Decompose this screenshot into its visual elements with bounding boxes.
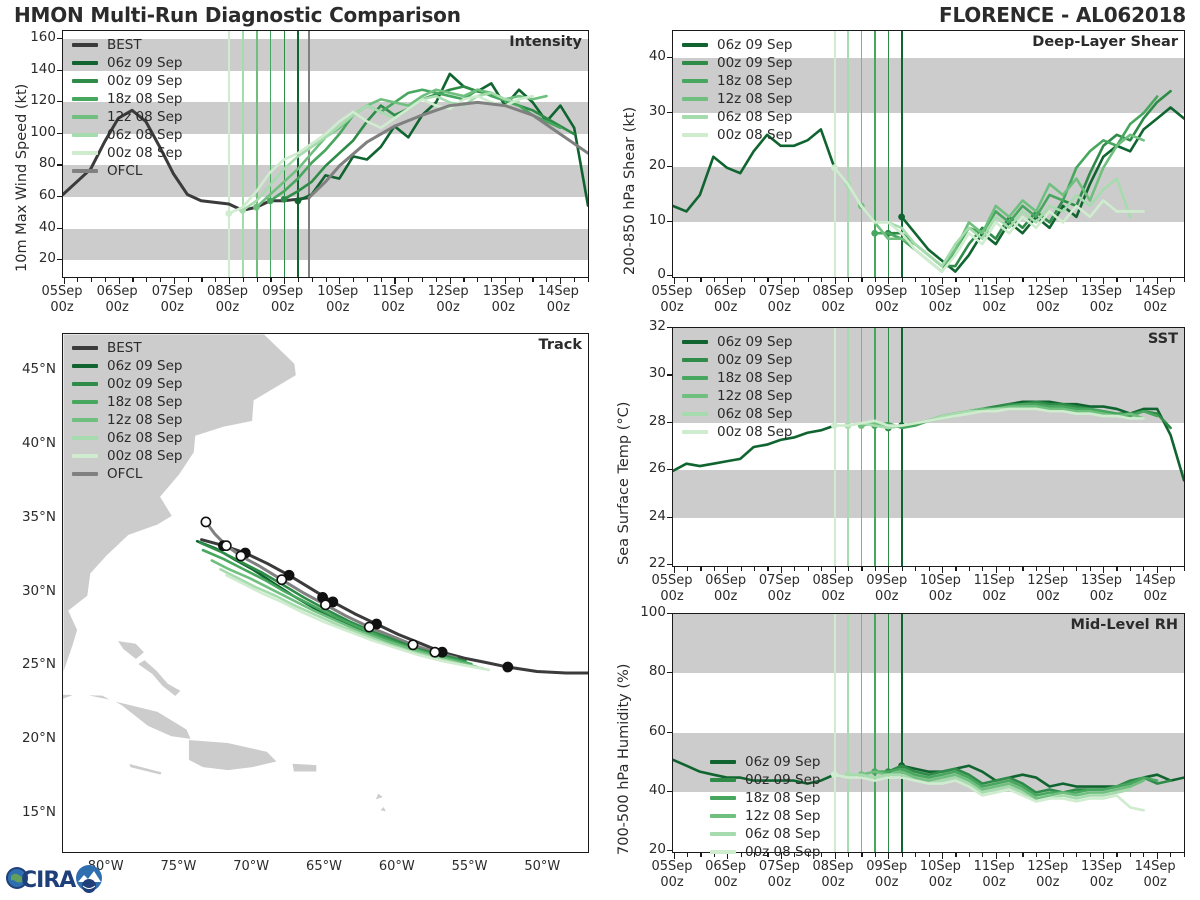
legend-label: 12z 08 Sep [107,412,182,428]
x-tick-mark [422,278,423,282]
x-tick-label: 05Sep00z [642,859,702,892]
x-tick-mark [1116,567,1117,571]
y-tick-label: 100 [624,604,666,620]
x-tick-label: 08Sep00z [803,573,863,606]
legend-label: 00z 08 Sep [107,448,182,464]
legend-item[interactable]: 06z 09 Sep [72,357,182,375]
track-point-marker [277,575,286,584]
y-tick-mark [667,517,672,518]
legend-label: 00z 09 Sep [107,73,182,89]
x-tick-mark [1170,567,1171,571]
series-start-marker [831,422,838,429]
legend-label: 06z 09 Sep [745,754,820,770]
data-line [902,108,1184,272]
x-tick-mark [1076,567,1077,571]
y-tick-mark [57,228,62,229]
x-tick-label: 08Sep00z [803,284,863,317]
legend-label: 00z 08 Sep [717,127,792,143]
legend-swatch-icon [72,151,98,155]
legend-item[interactable]: 06z 09 Sep [710,753,820,771]
x-tick-label: 14Sep00z [528,284,588,317]
x-tick-mark [955,567,956,571]
legend-swatch-icon [72,169,98,173]
x-tick-mark [821,278,822,282]
legend-swatch-icon [72,400,98,404]
legend-swatch-icon [682,412,708,416]
legend-label: 12z 08 Sep [717,91,792,107]
x-tick-mark [848,853,849,857]
x-tick-mark [1036,278,1037,282]
x-tick-label: 07Sep00z [749,859,809,892]
legend-label: 00z 08 Sep [745,844,820,860]
x-tick-mark [257,278,258,282]
x-tick-mark [902,567,903,571]
legend-label: BEST [107,37,142,53]
bahamas-grand [117,640,145,659]
x-tick-label: 06Sep00z [87,284,147,317]
track-legend: BEST06z 09 Sep00z 09 Sep18z 08 Sep12z 08… [72,339,182,483]
x-tick-mark [1022,567,1023,571]
x-tick-mark [714,567,715,571]
legend-item[interactable]: 00z 09 Sep [72,72,182,90]
track-point-marker [222,541,231,550]
x-tick-mark [929,853,930,857]
x-tick-label: 10Sep00z [910,284,970,317]
legend-item[interactable]: 00z 08 Sep [72,144,182,162]
lon-tick-label: 55°W [440,859,500,875]
x-tick-label: 08Sep00z [803,859,863,892]
x-tick-mark [915,278,916,282]
track-point-marker [408,640,417,649]
x-tick-mark [848,278,849,282]
lat-tick-label: 20°N [0,730,56,746]
x-tick-mark [132,278,133,282]
shear-ylabel: 200-850 hPa Shear (kt) [622,107,638,275]
legend-item[interactable]: 06z 09 Sep [72,54,182,72]
x-tick-label: 12Sep00z [1018,859,1078,892]
x-tick-mark [353,278,354,282]
series-start-marker [267,197,274,204]
cuba [62,694,191,740]
legend-label: 06z 08 Sep [717,406,792,422]
legend-swatch-icon [72,454,98,458]
x-tick-mark [808,278,809,282]
y-tick-mark [667,166,672,167]
puerto-rico [292,763,317,772]
y-tick-mark [667,112,672,113]
legend-item[interactable]: 06z 08 Sep [72,429,182,447]
track-panel-label: Track [539,337,582,353]
x-tick-label: 09Sep00z [857,284,917,317]
legend-item[interactable]: 12z 08 Sep [682,90,792,108]
legend-item[interactable]: 18z 08 Sep [682,369,792,387]
x-tick-mark [955,278,956,282]
legend-label: 06z 08 Sep [717,109,792,125]
x-tick-mark [754,278,755,282]
x-tick-label: 09Sep00z [253,284,313,317]
legend-item[interactable]: BEST [72,339,182,357]
legend-swatch-icon [710,796,736,800]
series-start-marker [225,210,232,217]
track-line [202,540,589,673]
lon-tick-label: 75°W [148,859,208,875]
series-start-marker [898,213,905,220]
y-tick-mark [667,791,672,792]
x-tick-mark [1022,853,1023,857]
legend-swatch-icon [682,430,708,434]
legend-item[interactable]: 00z 09 Sep [682,351,792,369]
x-tick-mark [1076,278,1077,282]
x-tick-mark [1009,853,1010,857]
legend-swatch-icon [72,43,98,47]
data-line [888,91,1170,266]
x-tick-mark [1090,278,1091,282]
x-tick-label: 05Sep00z [642,284,702,317]
x-tick-mark [687,853,688,857]
x-tick-mark [367,278,368,282]
x-tick-mark [929,567,930,571]
x-tick-label: 13Sep00z [1071,573,1131,606]
legend-swatch-icon [72,364,98,368]
sst-legend: 06z 09 Sep00z 09 Sep18z 08 Sep12z 08 Sep… [682,333,792,441]
x-tick-mark [1116,853,1117,857]
legend-swatch-icon [72,61,98,65]
x-tick-mark [1184,567,1185,571]
x-tick-mark [546,278,547,282]
hispaniola [188,739,277,770]
legend-item[interactable]: 00z 09 Sep [72,375,182,393]
legend-item[interactable]: BEST [72,36,182,54]
intensity-panel-label: Intensity [509,34,582,50]
legend-label: 06z 08 Sep [745,826,820,842]
x-tick-mark [1090,853,1091,857]
x-tick-mark [821,853,822,857]
x-tick-label: 13Sep00z [1071,859,1131,892]
legend-swatch-icon [72,472,98,476]
legend-label: 00z 09 Sep [745,772,820,788]
panel-rh: Mid-Level RH 06z 09 Sep00z 09 Sep18z 08 … [672,613,1185,853]
legend-item[interactable]: 12z 08 Sep [710,807,820,825]
y-tick-mark [667,422,672,423]
track-point-marker [236,551,245,560]
y-tick-mark [57,164,62,165]
legend-swatch-icon [710,760,736,764]
y-tick-mark [57,101,62,102]
x-tick-mark [298,278,299,282]
legend-swatch-icon [682,394,708,398]
x-tick-mark [574,278,575,282]
lat-tick-label: 45°N [0,361,56,377]
x-tick-mark [902,853,903,857]
x-tick-mark [929,278,930,282]
series-start-marker [871,230,878,237]
x-tick-mark [969,278,970,282]
x-tick-mark [146,278,147,282]
y-tick-label: 140 [14,61,56,77]
legend-label: 18z 08 Sep [717,370,792,386]
x-tick-mark [969,567,970,571]
x-tick-mark [915,567,916,571]
legend-swatch-icon [72,382,98,386]
y-tick-mark [667,374,672,375]
x-tick-label: 12Sep00z [418,284,478,317]
x-tick-mark [821,567,822,571]
x-tick-label: 10Sep00z [910,859,970,892]
page-title-right: FLORENCE - AL062018 [939,3,1186,27]
legend-label: 06z 09 Sep [717,37,792,53]
data-line [229,96,533,213]
x-tick-mark [77,278,78,282]
x-tick-mark [982,567,983,571]
legend-label: OFCL [107,466,142,482]
legend-item[interactable]: 00z 08 Sep [682,423,792,441]
legend-item[interactable]: 00z 08 Sep [710,843,820,861]
series-start-marker [281,196,288,203]
x-tick-label: 05Sep00z [642,573,702,606]
series-start-marker [253,204,260,211]
legend-label: OFCL [107,163,142,179]
series-start-marker [831,164,838,171]
y-tick-mark [667,221,672,222]
y-tick-mark [667,275,672,276]
intensity-ylabel: 10m Max Wind Speed (kt) [14,84,30,272]
x-tick-mark [741,567,742,571]
x-tick-label: 07Sep00z [749,284,809,317]
y-tick-mark [667,613,672,614]
legend-swatch-icon [710,814,736,818]
x-tick-mark [700,853,701,857]
lon-tick-label: 65°W [294,859,354,875]
y-tick-mark [57,70,62,71]
legend-swatch-icon [72,418,98,422]
legend-label: 06z 08 Sep [107,127,182,143]
y-tick-label: 40 [624,48,666,64]
x-tick-mark [794,278,795,282]
legend-item[interactable]: 06z 08 Sep [682,108,792,126]
x-tick-mark [861,278,862,282]
legend-item[interactable]: 06z 09 Sep [682,36,792,54]
legend-item[interactable]: 12z 08 Sep [72,108,182,126]
track-line [206,522,457,658]
data-line [861,135,1143,266]
x-tick-mark [1009,278,1010,282]
x-tick-mark [1170,278,1171,282]
x-tick-mark [1143,853,1144,857]
x-tick-mark [982,278,983,282]
legend-label: 06z 08 Sep [107,430,182,446]
x-tick-mark [463,278,464,282]
legend-swatch-icon [710,778,736,782]
legend-label: 00z 08 Sep [107,145,182,161]
x-tick-mark [201,278,202,282]
x-tick-mark [477,278,478,282]
x-tick-mark [767,567,768,571]
y-tick-mark [667,732,672,733]
x-tick-label: 09Sep00z [857,573,917,606]
x-tick-mark [875,278,876,282]
x-tick-label: 11Sep00z [964,859,1024,892]
legend-label: 18z 08 Sep [717,73,792,89]
legend-item[interactable]: OFCL [72,162,182,180]
x-tick-mark [1036,567,1037,571]
lat-tick-label: 15°N [0,804,56,820]
legend-item[interactable]: 18z 08 Sep [710,789,820,807]
x-tick-mark [312,278,313,282]
legend-item[interactable]: 06z 08 Sep [72,126,182,144]
y-tick-mark [57,196,62,197]
x-tick-label: 08Sep00z [197,284,257,317]
x-tick-mark [1063,567,1064,571]
legend-item[interactable]: OFCL [72,465,182,483]
x-tick-mark [700,278,701,282]
x-tick-label: 12Sep00z [1018,284,1078,317]
series-start-marker [831,771,838,778]
legend-label: 06z 09 Sep [717,334,792,350]
cira-logo: CIRA [4,856,116,898]
legend-label: 06z 09 Sep [107,55,182,71]
legend-label: 18z 08 Sep [107,394,182,410]
x-tick-label: 13Sep00z [1071,284,1131,317]
x-tick-label: 10Sep00z [910,573,970,606]
x-tick-mark [982,853,983,857]
legend-swatch-icon [682,358,708,362]
legend-item[interactable]: 12z 08 Sep [72,411,182,429]
x-tick-label: 13Sep00z [473,284,533,317]
y-tick-mark [667,469,672,470]
y-tick-mark [57,259,62,260]
x-tick-mark [519,278,520,282]
x-tick-mark [1063,278,1064,282]
legend-label: 00z 09 Sep [107,376,182,392]
x-tick-label: 06Sep00z [696,859,756,892]
y-tick-mark [57,38,62,39]
legend-swatch-icon [72,133,98,137]
legend-label: 06z 09 Sep [107,358,182,374]
x-tick-mark [408,278,409,282]
lesser-antilles-a [380,806,387,812]
legend-item[interactable]: 00z 09 Sep [710,771,820,789]
x-tick-label: 06Sep00z [696,284,756,317]
bahamas-chain [137,660,181,697]
x-tick-mark [381,278,382,282]
sst-panel-label: SST [1148,331,1178,347]
x-tick-mark [215,278,216,282]
x-tick-label: 09Sep00z [857,859,917,892]
legend-item[interactable]: 00z 08 Sep [682,126,792,144]
x-tick-mark [754,567,755,571]
legend-item[interactable]: 00z 08 Sep [72,447,182,465]
x-tick-mark [1143,567,1144,571]
x-tick-mark [1143,278,1144,282]
legend-item[interactable]: 12z 08 Sep [682,387,792,405]
y-tick-mark [667,327,672,328]
x-tick-mark [875,567,876,571]
x-tick-mark [1022,278,1023,282]
x-tick-mark [491,278,492,282]
x-tick-mark [969,853,970,857]
legend-label: 12z 08 Sep [745,808,820,824]
page-title-left: HMON Multi-Run Diagnostic Comparison [14,3,461,27]
legend-label: 18z 08 Sep [107,91,182,107]
x-tick-mark [1036,853,1037,857]
lat-tick-label: 35°N [0,509,56,525]
x-tick-mark [105,278,106,282]
x-tick-mark [861,853,862,857]
x-tick-mark [700,567,701,571]
x-tick-mark [915,853,916,857]
x-tick-label: 11Sep00z [964,284,1024,317]
legend-swatch-icon [682,97,708,101]
lon-tick-label: 50°W [512,859,572,875]
track-point-marker [321,600,330,609]
track-point-marker [503,662,512,671]
y-tick-mark [667,564,672,565]
legend-item[interactable]: 18z 08 Sep [682,72,792,90]
x-tick-mark [270,278,271,282]
x-tick-label: 14Sep00z [1125,573,1185,606]
x-tick-mark [687,278,688,282]
x-tick-mark [1009,567,1010,571]
legend-item[interactable]: 06z 08 Sep [682,405,792,423]
legend-item[interactable]: 06z 09 Sep [682,333,792,351]
intensity-legend: BEST06z 09 Sep00z 09 Sep18z 08 Sep12z 08… [72,36,182,180]
x-tick-mark [861,567,862,571]
x-tick-mark [1130,853,1131,857]
lat-tick-label: 40°N [0,435,56,451]
legend-label: BEST [107,340,142,356]
legend-swatch-icon [710,832,736,836]
x-tick-label: 11Sep00z [964,573,1024,606]
legend-item[interactable]: 06z 08 Sep [710,825,820,843]
x-tick-mark [767,278,768,282]
legend-swatch-icon [682,340,708,344]
x-tick-mark [1090,567,1091,571]
panel-intensity: Intensity BEST06z 09 Sep00z 09 Sep18z 08… [62,30,589,278]
y-tick-label: 32 [624,318,666,334]
x-tick-mark [875,853,876,857]
legend-label: 00z 08 Sep [717,424,792,440]
panel-sst: SST 06z 09 Sep00z 09 Sep18z 08 Sep12z 08… [672,327,1185,567]
x-tick-label: 07Sep00z [142,284,202,317]
legend-item[interactable]: 18z 08 Sep [72,393,182,411]
lesser-antilles-b [375,793,384,800]
panel-track: Track BEST06z 09 Sep00z 09 Sep18z 08 Sep… [62,333,589,853]
x-tick-mark [1130,567,1131,571]
x-tick-mark [955,853,956,857]
x-tick-mark [160,278,161,282]
y-tick-mark [57,133,62,134]
x-tick-mark [1184,853,1185,857]
legend-item[interactable]: 18z 08 Sep [72,90,182,108]
y-tick-mark [667,672,672,673]
lat-tick-label: 25°N [0,656,56,672]
legend-item[interactable]: 00z 09 Sep [682,54,792,72]
x-tick-label: 14Sep00z [1125,284,1185,317]
y-tick-mark [667,57,672,58]
x-tick-mark [436,278,437,282]
legend-label: 18z 08 Sep [745,790,820,806]
x-tick-mark [1130,278,1131,282]
x-tick-mark [91,278,92,282]
series-start-marker [294,197,301,204]
legend-swatch-icon [682,115,708,119]
rh-panel-label: Mid-Level RH [1071,617,1178,633]
svg-text:CIRA: CIRA [21,868,76,893]
y-tick-label: 160 [14,29,56,45]
y-tick-label: 30 [624,365,666,381]
x-tick-mark [1116,278,1117,282]
x-tick-mark [532,278,533,282]
